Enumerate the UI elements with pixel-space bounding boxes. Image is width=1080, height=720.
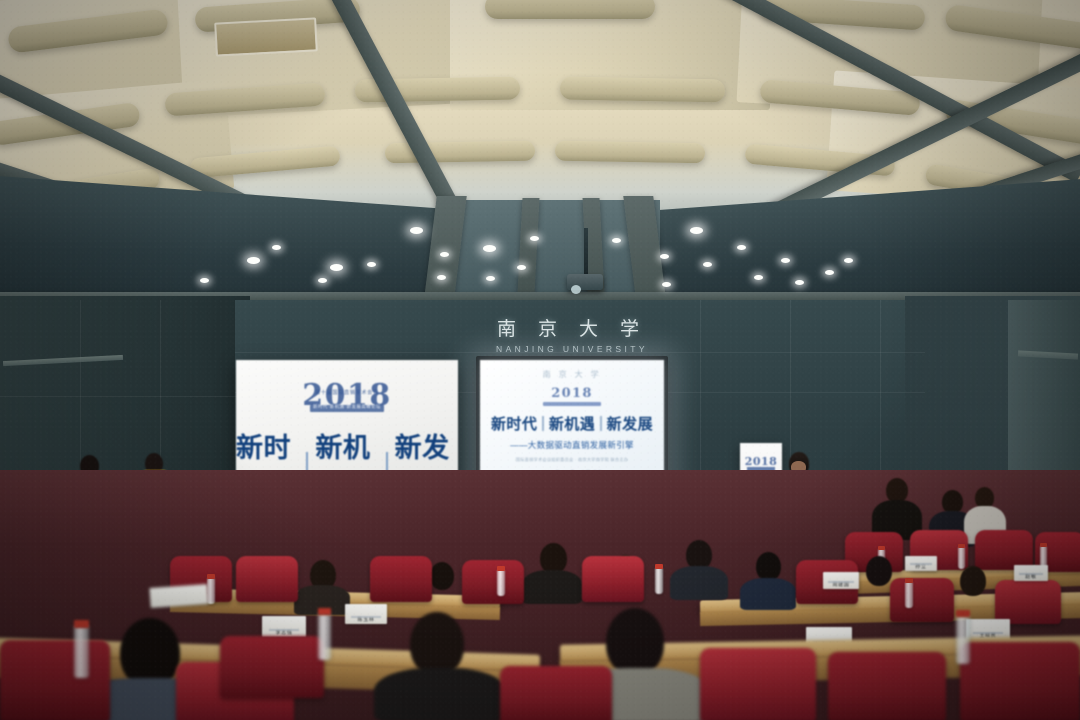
audience-shoulders xyxy=(740,578,796,610)
name-card: 孙立 xyxy=(905,556,937,571)
auditorium-seat xyxy=(462,560,524,604)
water-bottle xyxy=(958,547,965,569)
foreground-audience-shoulders xyxy=(374,668,506,720)
slide-event-logo: 2018 xyxy=(543,387,601,406)
auditorium-seat-foreground xyxy=(960,642,1080,720)
ceiling-downlight xyxy=(247,257,260,264)
name-card-header-bar xyxy=(973,632,1004,634)
ceiling-vent xyxy=(214,17,318,56)
projector-mount-pole xyxy=(584,228,588,276)
audience-head xyxy=(960,566,986,596)
ceiling xyxy=(0,0,1080,310)
auditorium-seat xyxy=(582,556,644,602)
slide-headline-divider-2 xyxy=(600,416,602,431)
name-card: 周建国 xyxy=(823,572,859,589)
auditorium-seat-foreground xyxy=(220,636,324,698)
water-bottle-foreground xyxy=(318,614,331,660)
slide-meta-line: 国际直销学术会议组织委员会 · 南京大学商学院 联合主办 xyxy=(516,457,628,463)
backdrop-logo-subtitle: 第十届国际直销学术会议 xyxy=(302,391,392,396)
foreground-audience-head xyxy=(410,612,464,676)
audience-head xyxy=(430,562,454,590)
audience-head xyxy=(756,552,781,581)
name-card-name: 陈玉林 xyxy=(357,618,374,623)
name-card: 陈玉林 xyxy=(345,604,387,624)
auditorium-seat-foreground xyxy=(828,652,946,720)
auditorium-seat xyxy=(370,556,432,602)
name-card-header-bar xyxy=(269,629,300,631)
name-card-name: 赵敏 xyxy=(1025,575,1036,580)
water-bottle-foreground xyxy=(956,616,970,664)
name-card-name: 孙立 xyxy=(915,565,926,570)
slide-headline-divider-1 xyxy=(542,416,544,431)
slide-subtitle: ——大数据驱动直销发展新引擎 xyxy=(510,439,634,451)
water-bottle-foreground xyxy=(74,626,89,678)
audience-head xyxy=(866,556,892,586)
backdrop-event-logo: 2018 第十届国际直销学术会议 新时代·新机遇·新发展高峰论坛 xyxy=(302,382,392,424)
nju-sign-english: NANJING UNIVERSITY xyxy=(492,344,652,354)
nanjing-university-sign: 南 京 大 学 NANJING UNIVERSITY xyxy=(492,320,652,354)
audience-shoulders xyxy=(522,570,582,604)
name-card-header-bar xyxy=(351,616,380,618)
slide-nju-logo: 南 京 大 学 xyxy=(543,369,602,380)
nju-sign-chinese: 南 京 大 学 xyxy=(492,320,652,339)
slide-headline-part-1: 新时代 xyxy=(491,413,537,434)
auditorium-seat-foreground xyxy=(500,666,612,720)
document-paper xyxy=(149,584,208,608)
conference-hall-photo: 南 京 大 学 NANJING UNIVERSITY 南 京 大 学 2018 … xyxy=(0,0,1080,720)
water-bottle xyxy=(655,568,663,594)
slide-headline-part-2: 新机遇 xyxy=(549,413,595,434)
water-bottle xyxy=(905,582,913,608)
slide-headline: 新时代 新机遇 新发展 xyxy=(491,413,653,434)
backdrop-logo-bar-text: 新时代·新机遇·新发展高峰论坛 xyxy=(302,405,392,409)
water-bottle xyxy=(497,570,505,596)
auditorium-seat xyxy=(975,530,1033,570)
name-card: 李志强 xyxy=(262,616,306,637)
auditorium-seat xyxy=(995,580,1061,624)
name-card: 赵敏 xyxy=(1014,565,1048,581)
slide-event-logo-bar xyxy=(543,402,601,406)
auditorium-seat xyxy=(236,556,298,602)
slide-headline-part-3: 新发展 xyxy=(607,413,653,434)
name-card-header-bar xyxy=(1019,573,1043,575)
auditorium-seat-foreground xyxy=(0,640,110,720)
slide-event-year: 2018 xyxy=(543,387,601,400)
audience-shoulders xyxy=(670,566,728,600)
auditorium-seat-foreground xyxy=(700,648,816,720)
name-card-header-bar xyxy=(828,581,853,583)
foreground-audience-head xyxy=(606,608,664,676)
name-card-name: 周建国 xyxy=(832,583,849,588)
auditorium-seat xyxy=(890,578,954,622)
name-card-header-bar xyxy=(910,563,932,565)
rollup-logo-year: 2018 xyxy=(740,457,782,466)
